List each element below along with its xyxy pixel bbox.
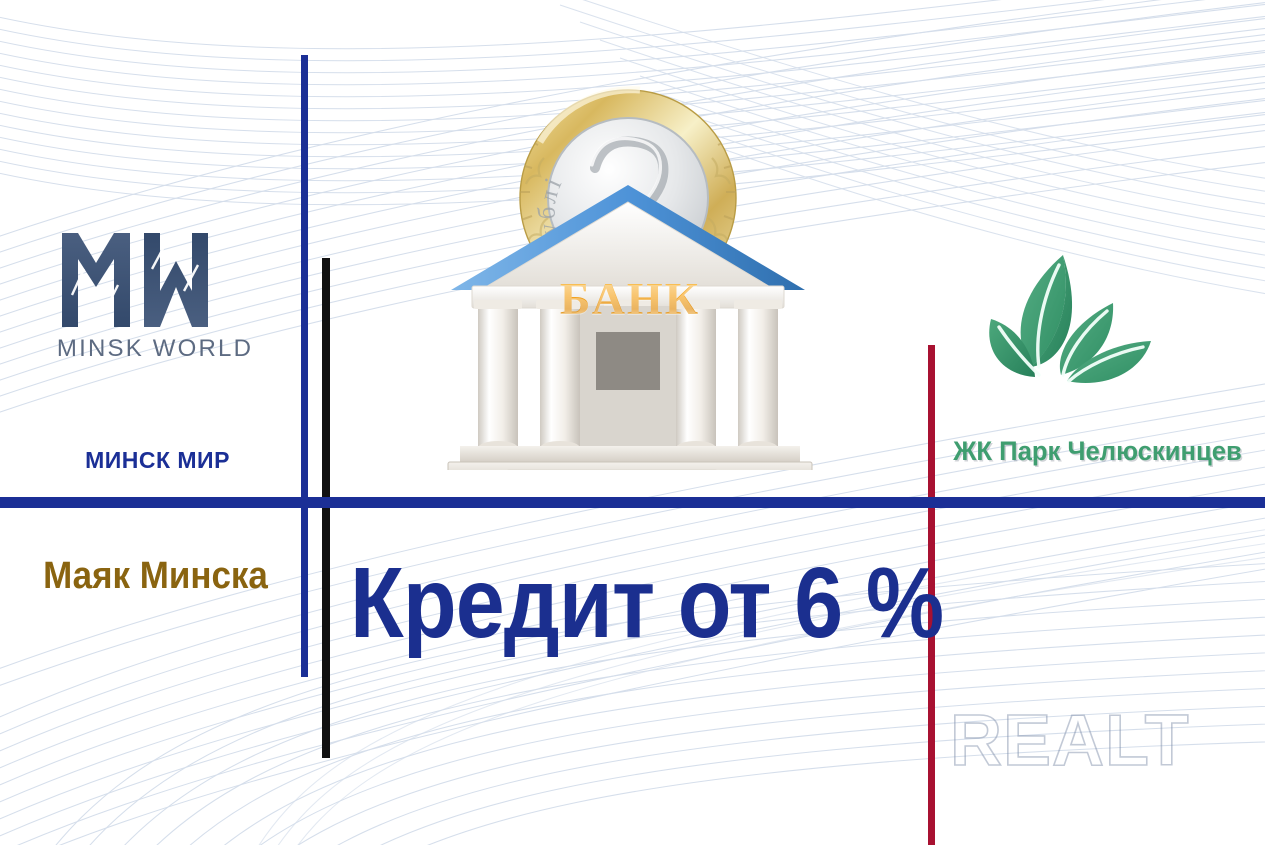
green-leaves-icon: [955, 245, 1185, 420]
vertical-divider-black: [322, 258, 330, 758]
vertical-divider-blue: [301, 55, 308, 677]
mayak-minska-label: Маяк Минска: [38, 555, 273, 598]
bank-building-icon: рублі: [420, 50, 840, 470]
realt-watermark: REALT: [950, 700, 1190, 782]
horizontal-divider-blue: [0, 497, 1265, 508]
promo-banner: MINSK WORLD МИНСК МИР Маяк Минска: [0, 0, 1265, 845]
park-chelyuskintsev-label: ЖК Парк Челюскинцев: [938, 436, 1256, 467]
minsk-mir-label: МИНСК МИР: [40, 447, 275, 474]
mw-monogram-icon: [52, 225, 252, 335]
headline-credit-offer: Кредит от 6 %: [350, 553, 860, 653]
minsk-world-wordmark: MINSK WORLD: [40, 335, 270, 363]
